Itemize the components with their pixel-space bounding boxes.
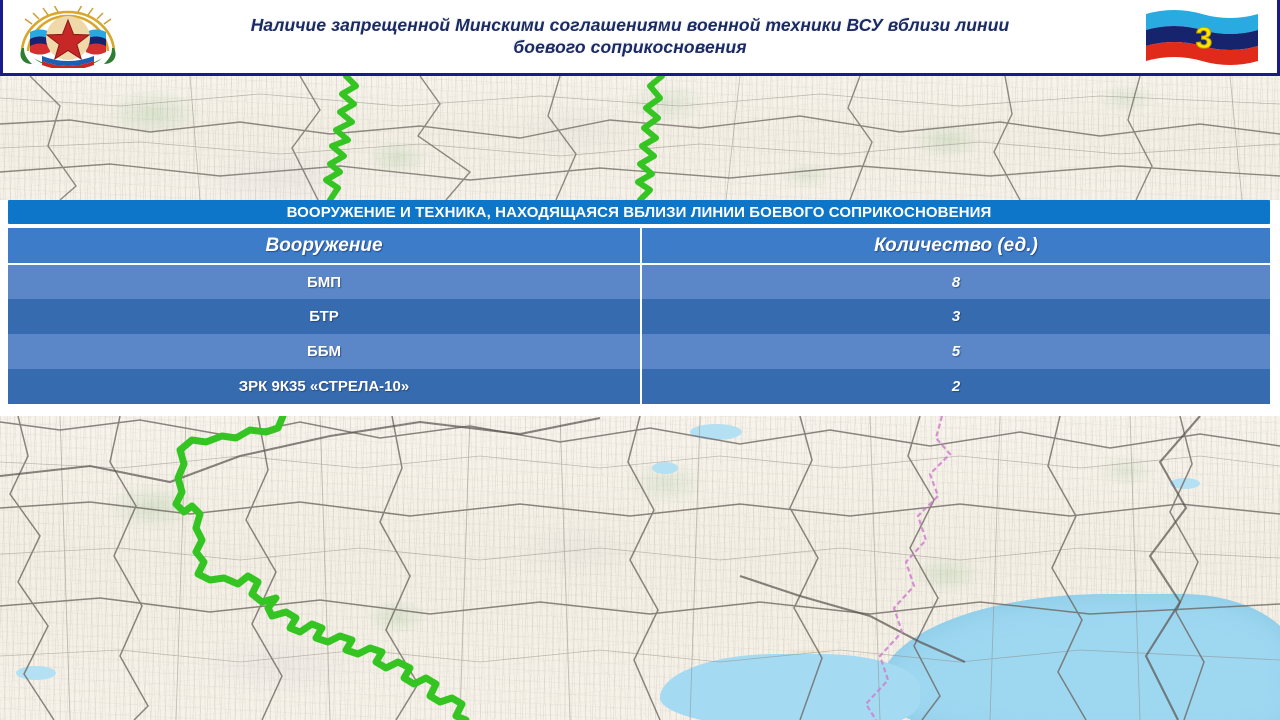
column-header-quantity: Количество (ед.): [641, 228, 1270, 264]
topographic-map-top: [0, 76, 1280, 200]
lpr-flag: 3: [1127, 0, 1277, 73]
weapon-qty: 5: [641, 334, 1270, 369]
table-row: БМП 8: [8, 264, 1270, 299]
map-roads-bottom: [0, 416, 1280, 720]
weapon-qty: 3: [641, 299, 1270, 334]
page-number: 3: [1196, 22, 1213, 55]
equipment-table-block: ВООРУЖЕНИЕ И ТЕХНИКА, НАХОДЯЩАЯСЯ ВБЛИЗИ…: [8, 200, 1270, 404]
weapon-qty: 8: [641, 264, 1270, 299]
lpr-coat-of-arms: [3, 0, 133, 73]
weapon-name: БТР: [8, 299, 641, 334]
equipment-table: Вооружение Количество (ед.) БМП 8 БТР 3 …: [8, 228, 1270, 404]
table-row: БТР 3: [8, 299, 1270, 334]
weapon-qty: 2: [641, 369, 1270, 404]
slide-header: Наличие запрещенной Минскими соглашениям…: [0, 0, 1280, 76]
page-title-line-1: Наличие запрещенной Минскими соглашениям…: [139, 15, 1121, 37]
slide-root: Наличие запрещенной Минскими соглашениям…: [0, 0, 1280, 720]
table-header-row: Вооружение Количество (ед.): [8, 228, 1270, 264]
page-title-line-2: боевого соприкосновения: [139, 37, 1121, 59]
weapon-name: ЗРК 9К35 «СТРЕЛА-10»: [8, 369, 641, 404]
table-row: ББМ 5: [8, 334, 1270, 369]
table-banner-title: ВООРУЖЕНИЕ И ТЕХНИКА, НАХОДЯЩАЯСЯ ВБЛИЗИ…: [8, 200, 1270, 224]
table-row: ЗРК 9К35 «СТРЕЛА-10» 2: [8, 369, 1270, 404]
column-header-weapon: Вооружение: [8, 228, 641, 264]
topographic-map-bottom: [0, 416, 1280, 720]
weapon-name: БМП: [8, 264, 641, 299]
weapon-name: ББМ: [8, 334, 641, 369]
page-title: Наличие запрещенной Минскими соглашениям…: [133, 15, 1127, 59]
map-roads-top: [0, 76, 1280, 200]
